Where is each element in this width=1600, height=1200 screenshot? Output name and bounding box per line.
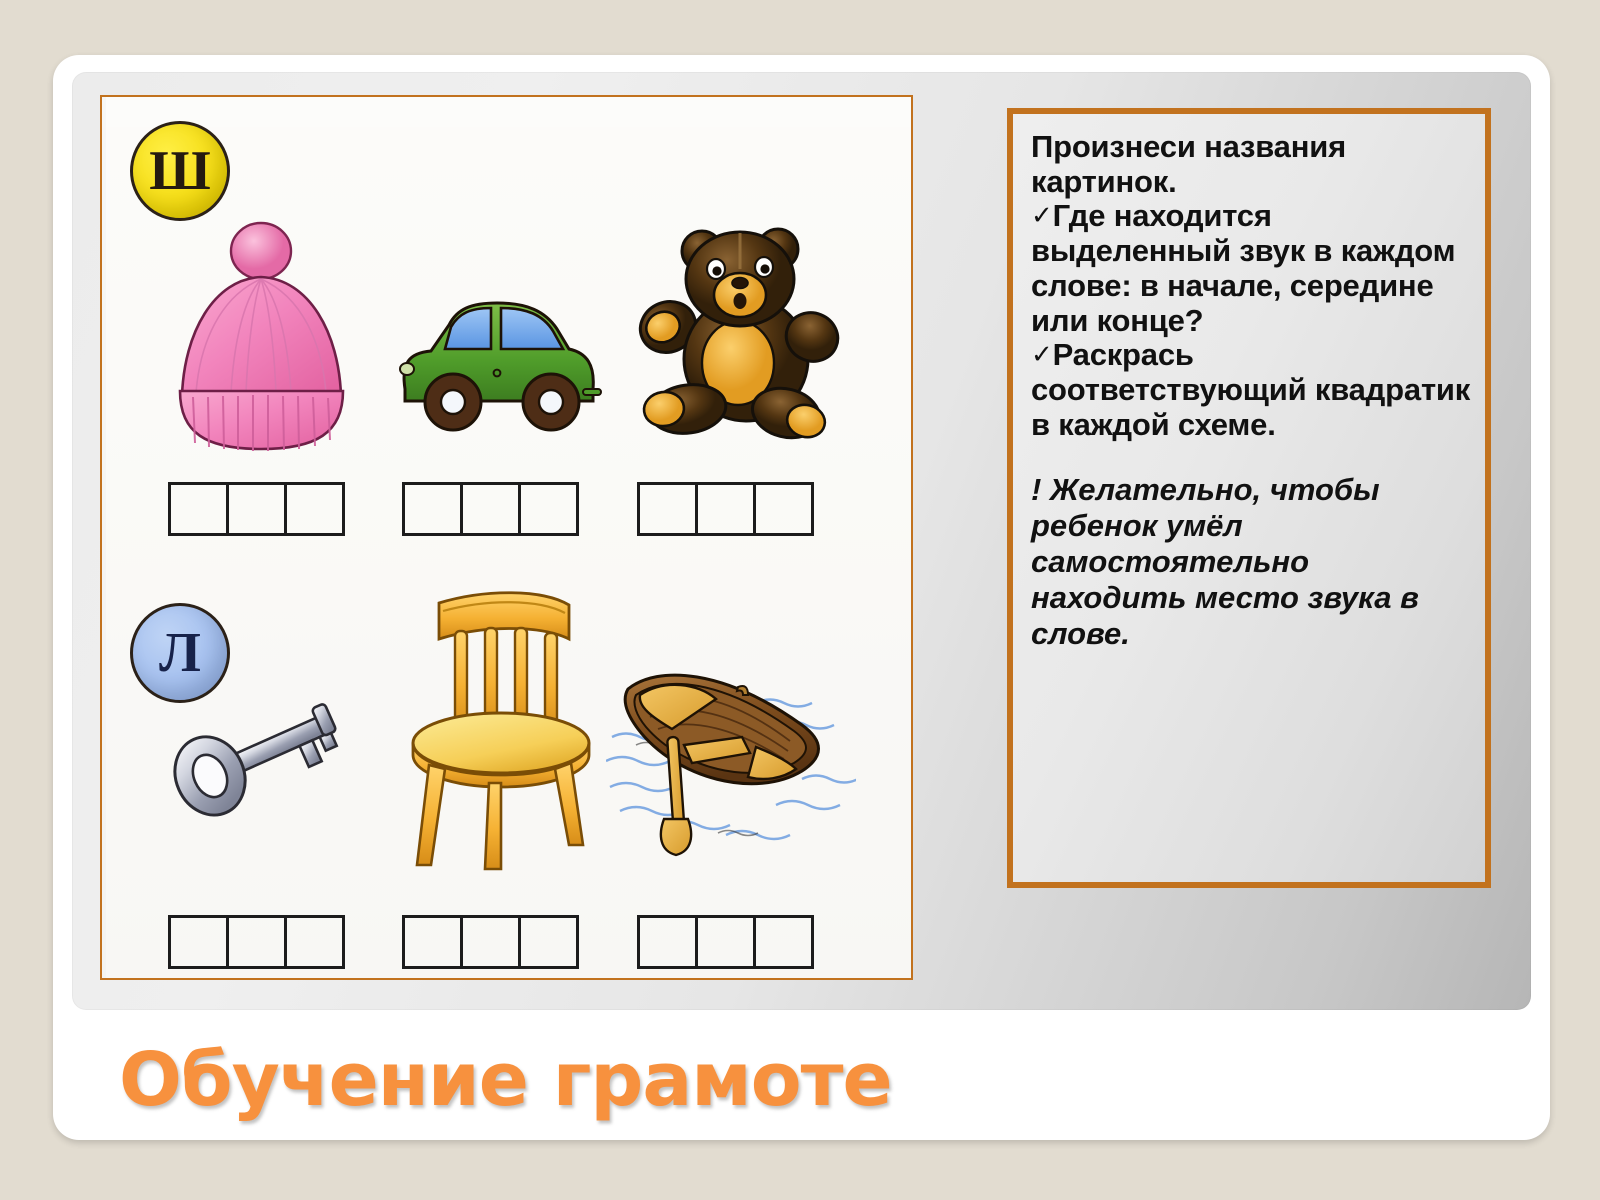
scheme-cell[interactable] [637,915,698,969]
slide-title: Обучение грамоте [119,1030,1499,1130]
key-icon [150,655,375,855]
scheme-cell[interactable] [695,915,756,969]
scheme-boat[interactable] [637,915,814,969]
scheme-cell[interactable] [753,482,814,536]
slide-card: Ш Л [53,55,1550,1140]
scheme-cell[interactable] [168,915,229,969]
instructions-note: ! Желательно, чтобы ребенок умёл самосто… [1031,472,1471,652]
content-panel: Ш Л [72,72,1531,1010]
scheme-cell[interactable] [402,482,463,536]
worksheet-image: Ш Л [100,95,913,980]
picture-slot-bear [622,217,857,467]
scheme-car[interactable] [402,482,579,536]
picture-slot-chair [387,595,622,895]
chair-icon [393,583,608,873]
picture-slot-car [387,217,622,467]
instructions-panel: Произнеси названия картинок. ✓Где находи… [1007,108,1491,888]
scheme-cell[interactable] [168,482,229,536]
picture-row-l [102,595,911,895]
picture-slot-hat [150,217,385,467]
letter-badge-sh-label: Ш [149,143,211,199]
boat-icon [606,629,856,869]
scheme-cell[interactable] [518,915,579,969]
instruction-bullet-2: ✓Раскрась соответствующий квадратик в ка… [1031,338,1471,442]
scheme-cell[interactable] [753,915,814,969]
scheme-key[interactable] [168,915,345,969]
scheme-chair[interactable] [402,915,579,969]
car-icon [387,277,612,457]
scheme-cell[interactable] [695,482,756,536]
instruction-bullet-1-label: Где находится выделенный звук в каждом с… [1031,198,1455,337]
scheme-cell[interactable] [460,915,521,969]
scheme-cell[interactable] [284,915,345,969]
scheme-cell[interactable] [402,915,463,969]
instruction-bullet-1: ✓Где находится выделенный звук в каждом … [1031,199,1471,338]
instructions-text: Произнеси названия картинок. ✓Где находи… [1031,130,1471,442]
scheme-cell[interactable] [226,482,287,536]
scheme-cell[interactable] [226,915,287,969]
instruction-bullet-2-label: Раскрась соответствующий квадратик в каж… [1031,337,1470,441]
scheme-cell[interactable] [460,482,521,536]
knit-hat-icon [158,221,373,466]
letter-badge-sh: Ш [130,121,230,221]
scheme-cell[interactable] [518,482,579,536]
scheme-cell[interactable] [284,482,345,536]
picture-row-sh [102,217,911,467]
scheme-hat[interactable] [168,482,345,536]
scheme-bear[interactable] [637,482,814,536]
check-icon: ✓ [1031,200,1053,230]
scheme-cell[interactable] [637,482,698,536]
teddy-bear-icon [626,217,841,452]
picture-slot-boat [622,595,857,895]
check-icon: ✓ [1031,339,1053,369]
instruction-line-1: Произнеси названия картинок. [1031,130,1471,199]
picture-slot-key [150,595,385,895]
